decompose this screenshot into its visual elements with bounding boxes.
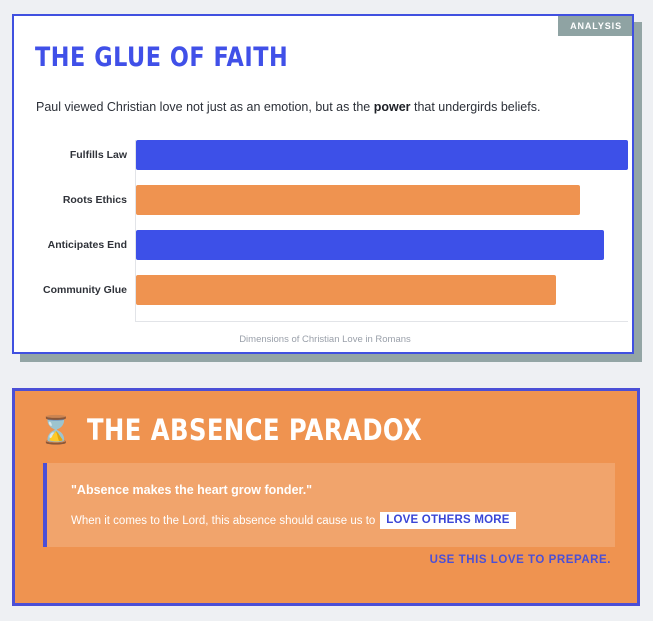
quote-subtext: When it comes to the Lord, this absence … bbox=[71, 512, 516, 529]
status-badge: ANALYSIS bbox=[558, 16, 632, 36]
page-title: THE GLUE OF FAITH bbox=[35, 42, 288, 73]
analysis-card: ANALYSIS THE GLUE OF FAITH Paul viewed C… bbox=[12, 14, 634, 354]
bar-label: Fulfills Law bbox=[36, 140, 127, 170]
bar-row: Fulfills Law bbox=[36, 140, 628, 170]
paradox-card: ⌛ THE ABSENCE PARADOX "Absence makes the… bbox=[12, 388, 640, 606]
subtitle-emphasis: power bbox=[374, 100, 411, 114]
bar-rect bbox=[136, 230, 604, 260]
paradox-header: ⌛ THE ABSENCE PARADOX bbox=[39, 413, 447, 447]
bar-row: Community Glue bbox=[36, 275, 628, 305]
card-subtitle: Paul viewed Christian love not just as a… bbox=[36, 100, 540, 114]
bar-rect bbox=[136, 140, 628, 170]
paradox-title: THE ABSENCE PARADOX bbox=[87, 413, 422, 447]
subtitle-text-after: that undergirds beliefs. bbox=[411, 100, 541, 114]
quote-text: "Absence makes the heart grow fonder." bbox=[71, 483, 312, 497]
bar-rect bbox=[136, 275, 556, 305]
paradox-footer: USE THIS LOVE TO PREPARE. bbox=[430, 554, 611, 566]
bar-label: Community Glue bbox=[36, 275, 127, 305]
highlight-chip: LOVE OTHERS MORE bbox=[380, 512, 515, 529]
quote-subtext-label: When it comes to the Lord, this absence … bbox=[71, 515, 375, 527]
bar-rect bbox=[136, 185, 580, 215]
bar-row: Anticipates End bbox=[36, 230, 628, 260]
chart-caption: Dimensions of Christian Love in Romans bbox=[14, 334, 634, 345]
hourglass-icon: ⌛ bbox=[39, 417, 73, 444]
bar-label: Anticipates End bbox=[36, 230, 127, 260]
bar-label: Roots Ethics bbox=[36, 185, 127, 215]
bar-chart: Fulfills LawRoots EthicsAnticipates EndC… bbox=[36, 140, 628, 330]
chart-baseline bbox=[135, 321, 628, 322]
quote-box: "Absence makes the heart grow fonder." W… bbox=[43, 463, 615, 547]
bar-row: Roots Ethics bbox=[36, 185, 628, 215]
subtitle-text-before: Paul viewed Christian love not just as a… bbox=[36, 100, 374, 114]
